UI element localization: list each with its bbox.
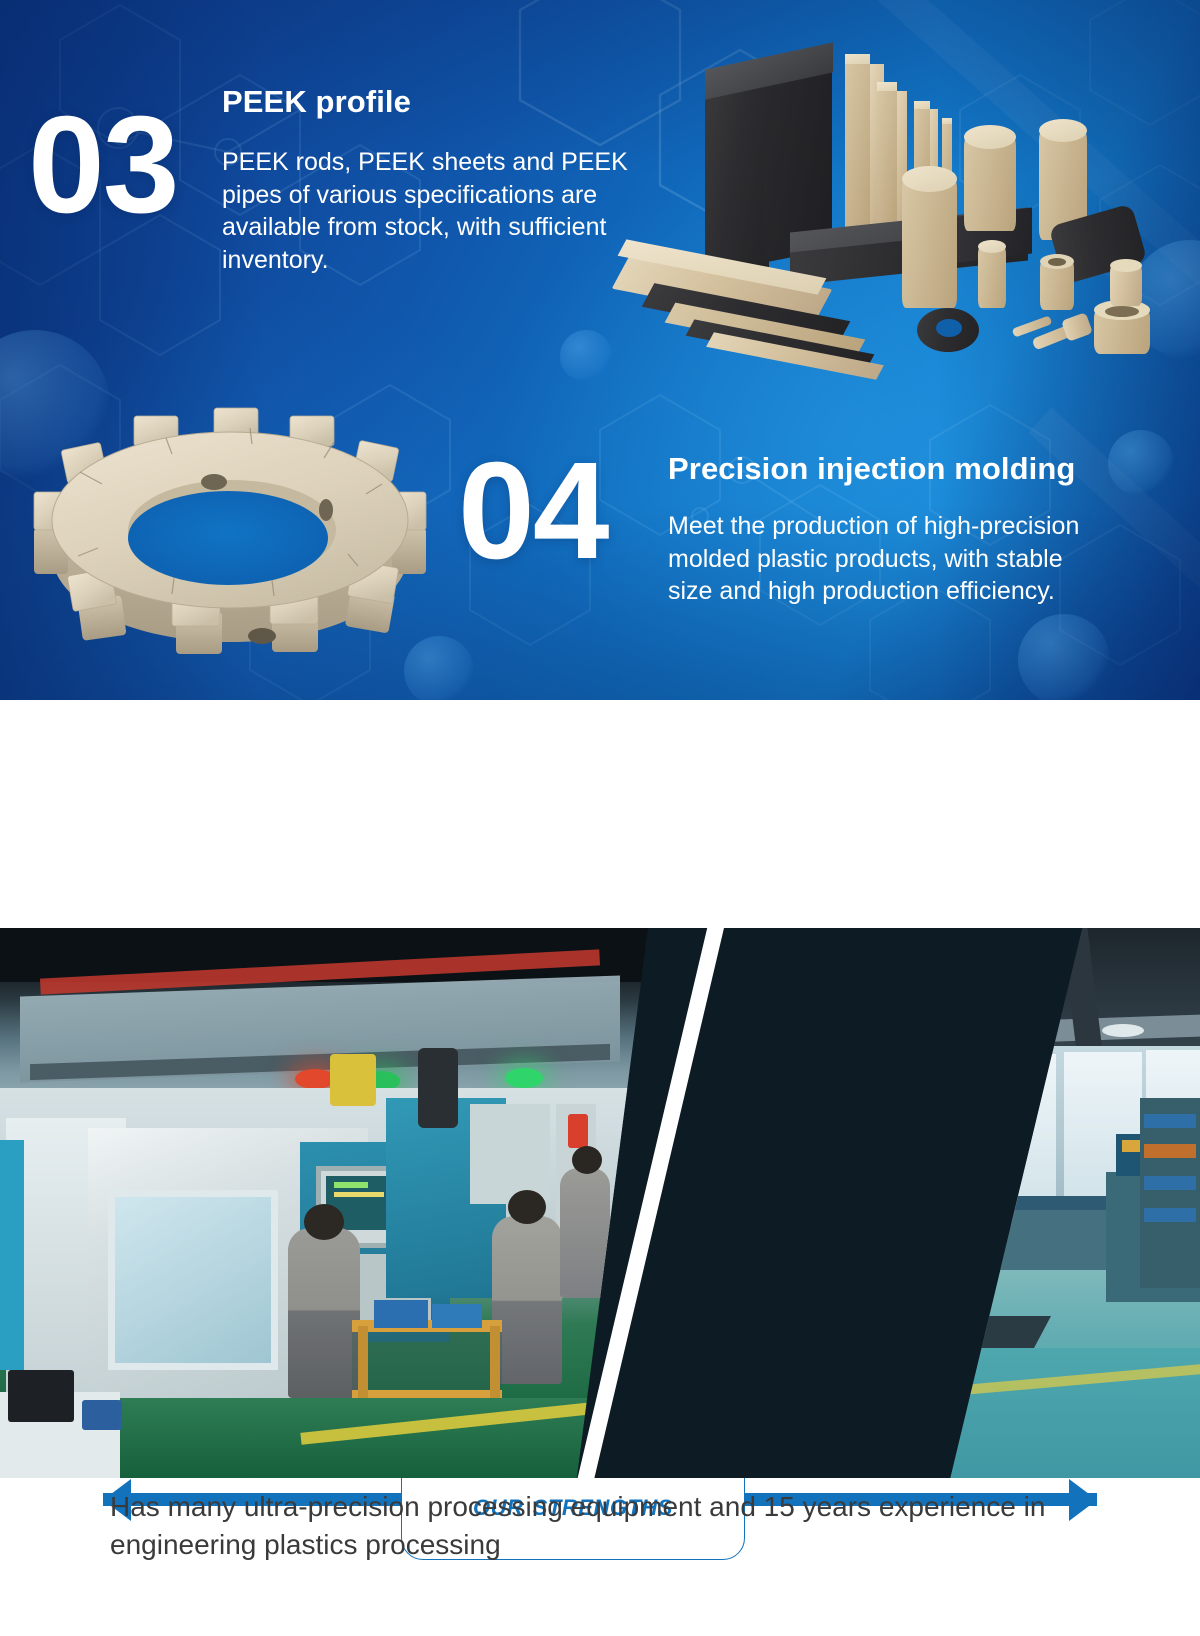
sign-text-cn: 模具车间	[837, 966, 909, 983]
feature-title-04: Precision injection molding	[668, 451, 1075, 487]
mold-workshop-inner: 模具车间 Mold Workshop	[640, 928, 1200, 1478]
workshop-photo-pair: 模具车间 Mold Workshop	[0, 928, 1200, 1478]
feature-body-04: Meet the production of high-precision mo…	[668, 510, 1094, 608]
bokeh-circle	[1018, 614, 1110, 700]
feature-number-04: 04	[458, 442, 608, 580]
feature-number-03: 03	[28, 96, 178, 234]
strengths-banner: Our strengths	[0, 700, 1200, 928]
bokeh-circle	[560, 330, 612, 382]
caption-text: Has many ultra-precision processing equi…	[110, 1488, 1090, 1563]
peek-gear-ring-image	[30, 392, 430, 662]
hero-blue-panel: 03 PEEK profile PEEK rods, PEEK sheets a…	[0, 0, 1200, 700]
mold-workshop-sign: 模具车间 Mold Workshop	[800, 952, 946, 998]
sign-text-en: Mold Workshop	[845, 982, 901, 989]
caption-block: Has many ultra-precision processing equi…	[0, 1488, 1200, 1563]
feature-title-03: PEEK profile	[222, 84, 411, 120]
cnc-workshop-photo	[0, 928, 648, 1478]
product-feature-page: 03 PEEK profile PEEK rods, PEEK sheets a…	[0, 0, 1200, 1636]
feature-body-03: PEEK rods, PEEK sheets and PEEK pipes of…	[222, 146, 652, 276]
bokeh-circle	[1108, 430, 1174, 496]
peek-products-image	[612, 18, 1192, 348]
